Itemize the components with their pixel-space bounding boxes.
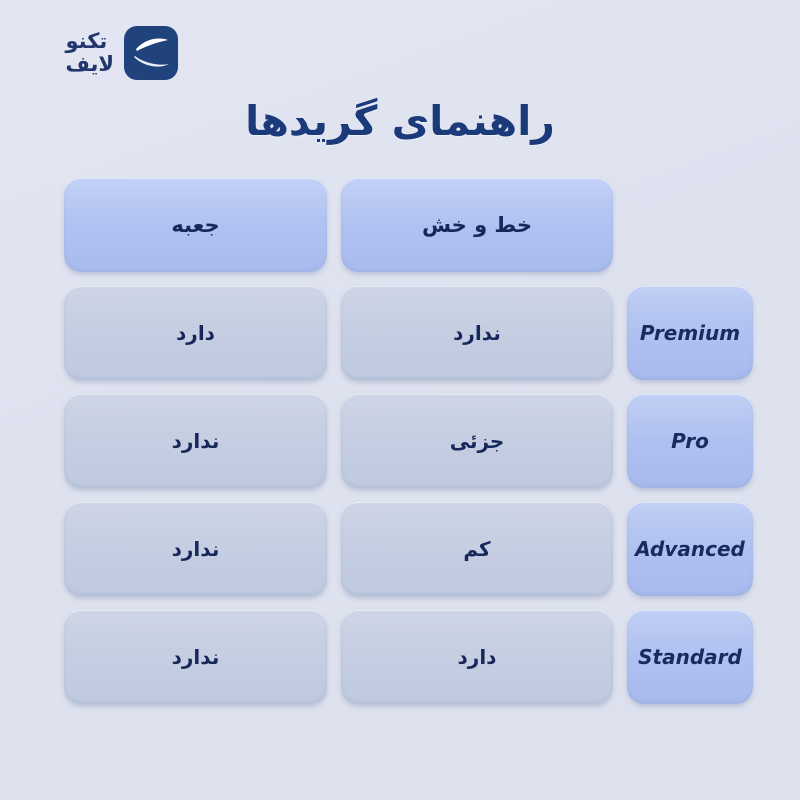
grade-label-standard[interactable]: Standard xyxy=(627,610,753,704)
brand-name-line-1: تکنو xyxy=(65,31,107,52)
page-canvas: تکنو لایف راهنمای گریدها خط و خش جعبه Pr… xyxy=(0,0,800,800)
cell-advanced-box: ندارد xyxy=(64,502,327,596)
column-header-box: جعبه xyxy=(64,178,327,272)
page-title: راهنمای گریدها xyxy=(0,97,800,145)
table-header-row: خط و خش جعبه xyxy=(64,178,753,272)
cell-standard-scratches: دارد xyxy=(341,610,613,704)
brand-logo: تکنو لایف xyxy=(24,26,178,80)
techno-life-logo-icon xyxy=(124,26,178,80)
cell-advanced-scratches: کم xyxy=(341,502,613,596)
table-row: Premium ندارد دارد xyxy=(64,286,753,380)
table-row: Standard دارد ندارد xyxy=(64,610,753,704)
grade-comparison-table: خط و خش جعبه Premium ندارد دارد Pro جزئی… xyxy=(64,178,753,704)
cell-premium-box: دارد xyxy=(64,286,327,380)
cell-premium-scratches: ندارد xyxy=(341,286,613,380)
grade-label-premium[interactable]: Premium xyxy=(627,286,753,380)
cell-standard-box: ندارد xyxy=(64,610,327,704)
brand-name-line-2: لایف xyxy=(65,54,114,75)
grade-label-pro[interactable]: Pro xyxy=(627,394,753,488)
brand-wordmark: تکنو لایف xyxy=(65,31,114,75)
table-row: Advanced کم ندارد xyxy=(64,502,753,596)
cell-pro-scratches: جزئی xyxy=(341,394,613,488)
table-row: Pro جزئی ندارد xyxy=(64,394,753,488)
column-header-scratches: خط و خش xyxy=(341,178,613,272)
cell-pro-box: ندارد xyxy=(64,394,327,488)
grade-label-advanced[interactable]: Advanced xyxy=(627,502,753,596)
header-grade-spacer xyxy=(627,178,753,272)
